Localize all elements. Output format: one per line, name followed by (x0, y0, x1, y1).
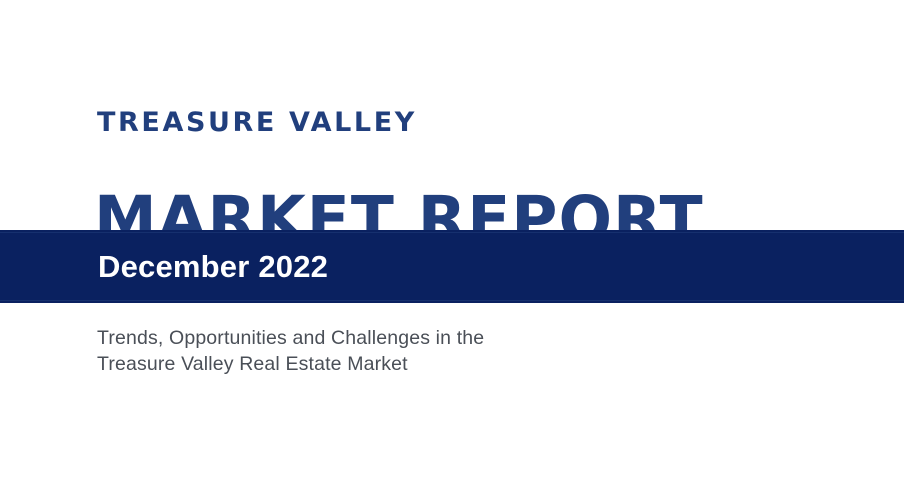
report-date-label: December 2022 (98, 249, 328, 285)
report-subtitle: Trends, Opportunities and Challenges in … (97, 325, 697, 377)
report-eyebrow-title: TREASURE VALLEY (97, 106, 417, 140)
report-cover-page: TREASURE VALLEY MARKET REPORT December 2… (0, 0, 904, 484)
report-subtitle-line-2: Treasure Valley Real Estate Market (97, 351, 697, 377)
date-banner: December 2022 (0, 230, 904, 303)
report-subtitle-line-1: Trends, Opportunities and Challenges in … (97, 325, 697, 351)
